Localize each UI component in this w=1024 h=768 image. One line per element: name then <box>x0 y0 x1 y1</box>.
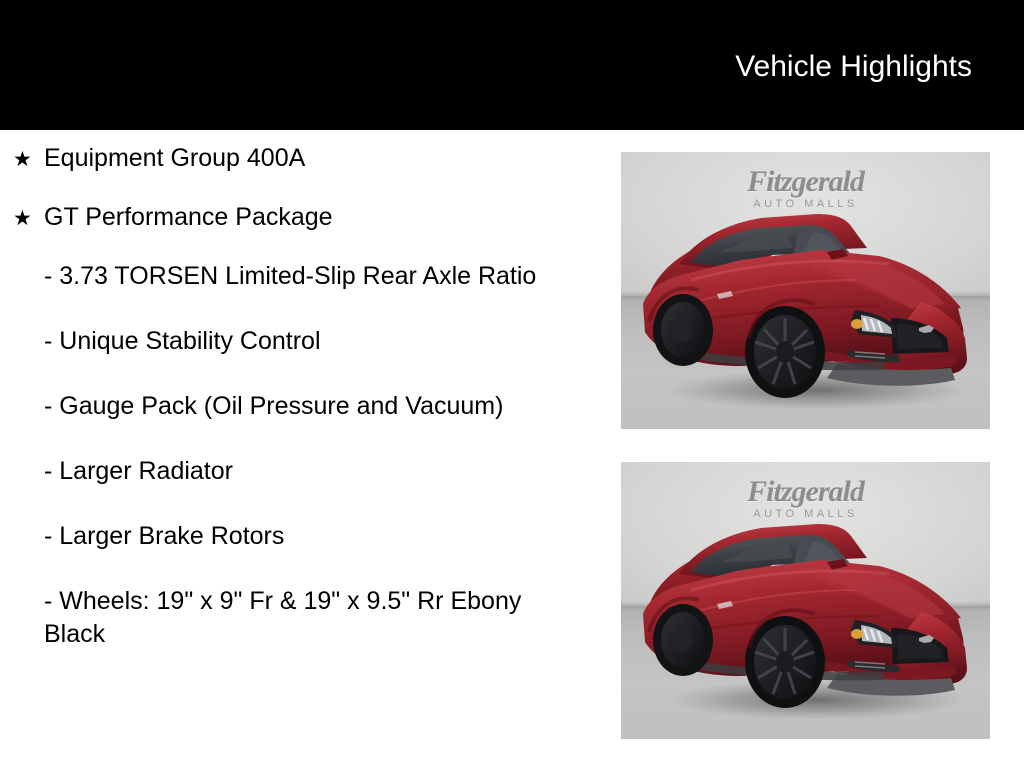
list-item-label: Equipment Group 400A <box>44 142 564 175</box>
list-item-label: - 3.73 TORSEN Limited-Slip Rear Axle Rat… <box>44 260 564 293</box>
mustang-car-image <box>621 462 990 739</box>
list-item: - Larger Radiator <box>0 455 600 488</box>
header-bar: Vehicle Highlights <box>0 0 1024 130</box>
star-bullet-icon: ★ <box>13 202 32 235</box>
mustang-car-icon <box>621 152 990 429</box>
content-area: ★ Equipment Group 400A ★ GT Performance … <box>0 130 1024 768</box>
rear-wheel <box>653 294 713 366</box>
list-item: - Gauge Pack (Oil Pressure and Vacuum) <box>0 390 600 423</box>
list-item: - 3.73 TORSEN Limited-Slip Rear Axle Rat… <box>0 260 600 293</box>
page-title: Vehicle Highlights <box>735 49 972 85</box>
list-item: - Larger Brake Rotors <box>0 520 600 553</box>
list-item-label: - Unique Stability Control <box>44 325 564 358</box>
rear-wheel <box>653 604 713 676</box>
star-bullet-icon: ★ <box>13 143 32 176</box>
list-item: ★ Equipment Group 400A <box>0 142 600 175</box>
list-item-label: - Wheels: 19" x 9" Fr & 19" x 9.5" Rr Eb… <box>44 585 564 651</box>
list-item-label: GT Performance Package <box>44 201 564 234</box>
mustang-car-image <box>621 152 990 429</box>
list-item: - Wheels: 19" x 9" Fr & 19" x 9.5" Rr Eb… <box>0 585 600 651</box>
vehicle-photo-1[interactable]: Fitzgerald AUTO MALLS <box>621 152 990 429</box>
mustang-car-icon <box>621 462 990 739</box>
list-item: ★ GT Performance Package <box>0 201 600 234</box>
list-item: - Unique Stability Control <box>0 325 600 358</box>
vehicle-photo-2[interactable]: Fitzgerald AUTO MALLS <box>621 462 990 739</box>
list-item-label: - Larger Brake Rotors <box>44 520 564 553</box>
vehicle-highlights-list: ★ Equipment Group 400A ★ GT Performance … <box>0 142 600 683</box>
list-item-label: - Larger Radiator <box>44 455 564 488</box>
list-item-label: - Gauge Pack (Oil Pressure and Vacuum) <box>44 390 564 423</box>
